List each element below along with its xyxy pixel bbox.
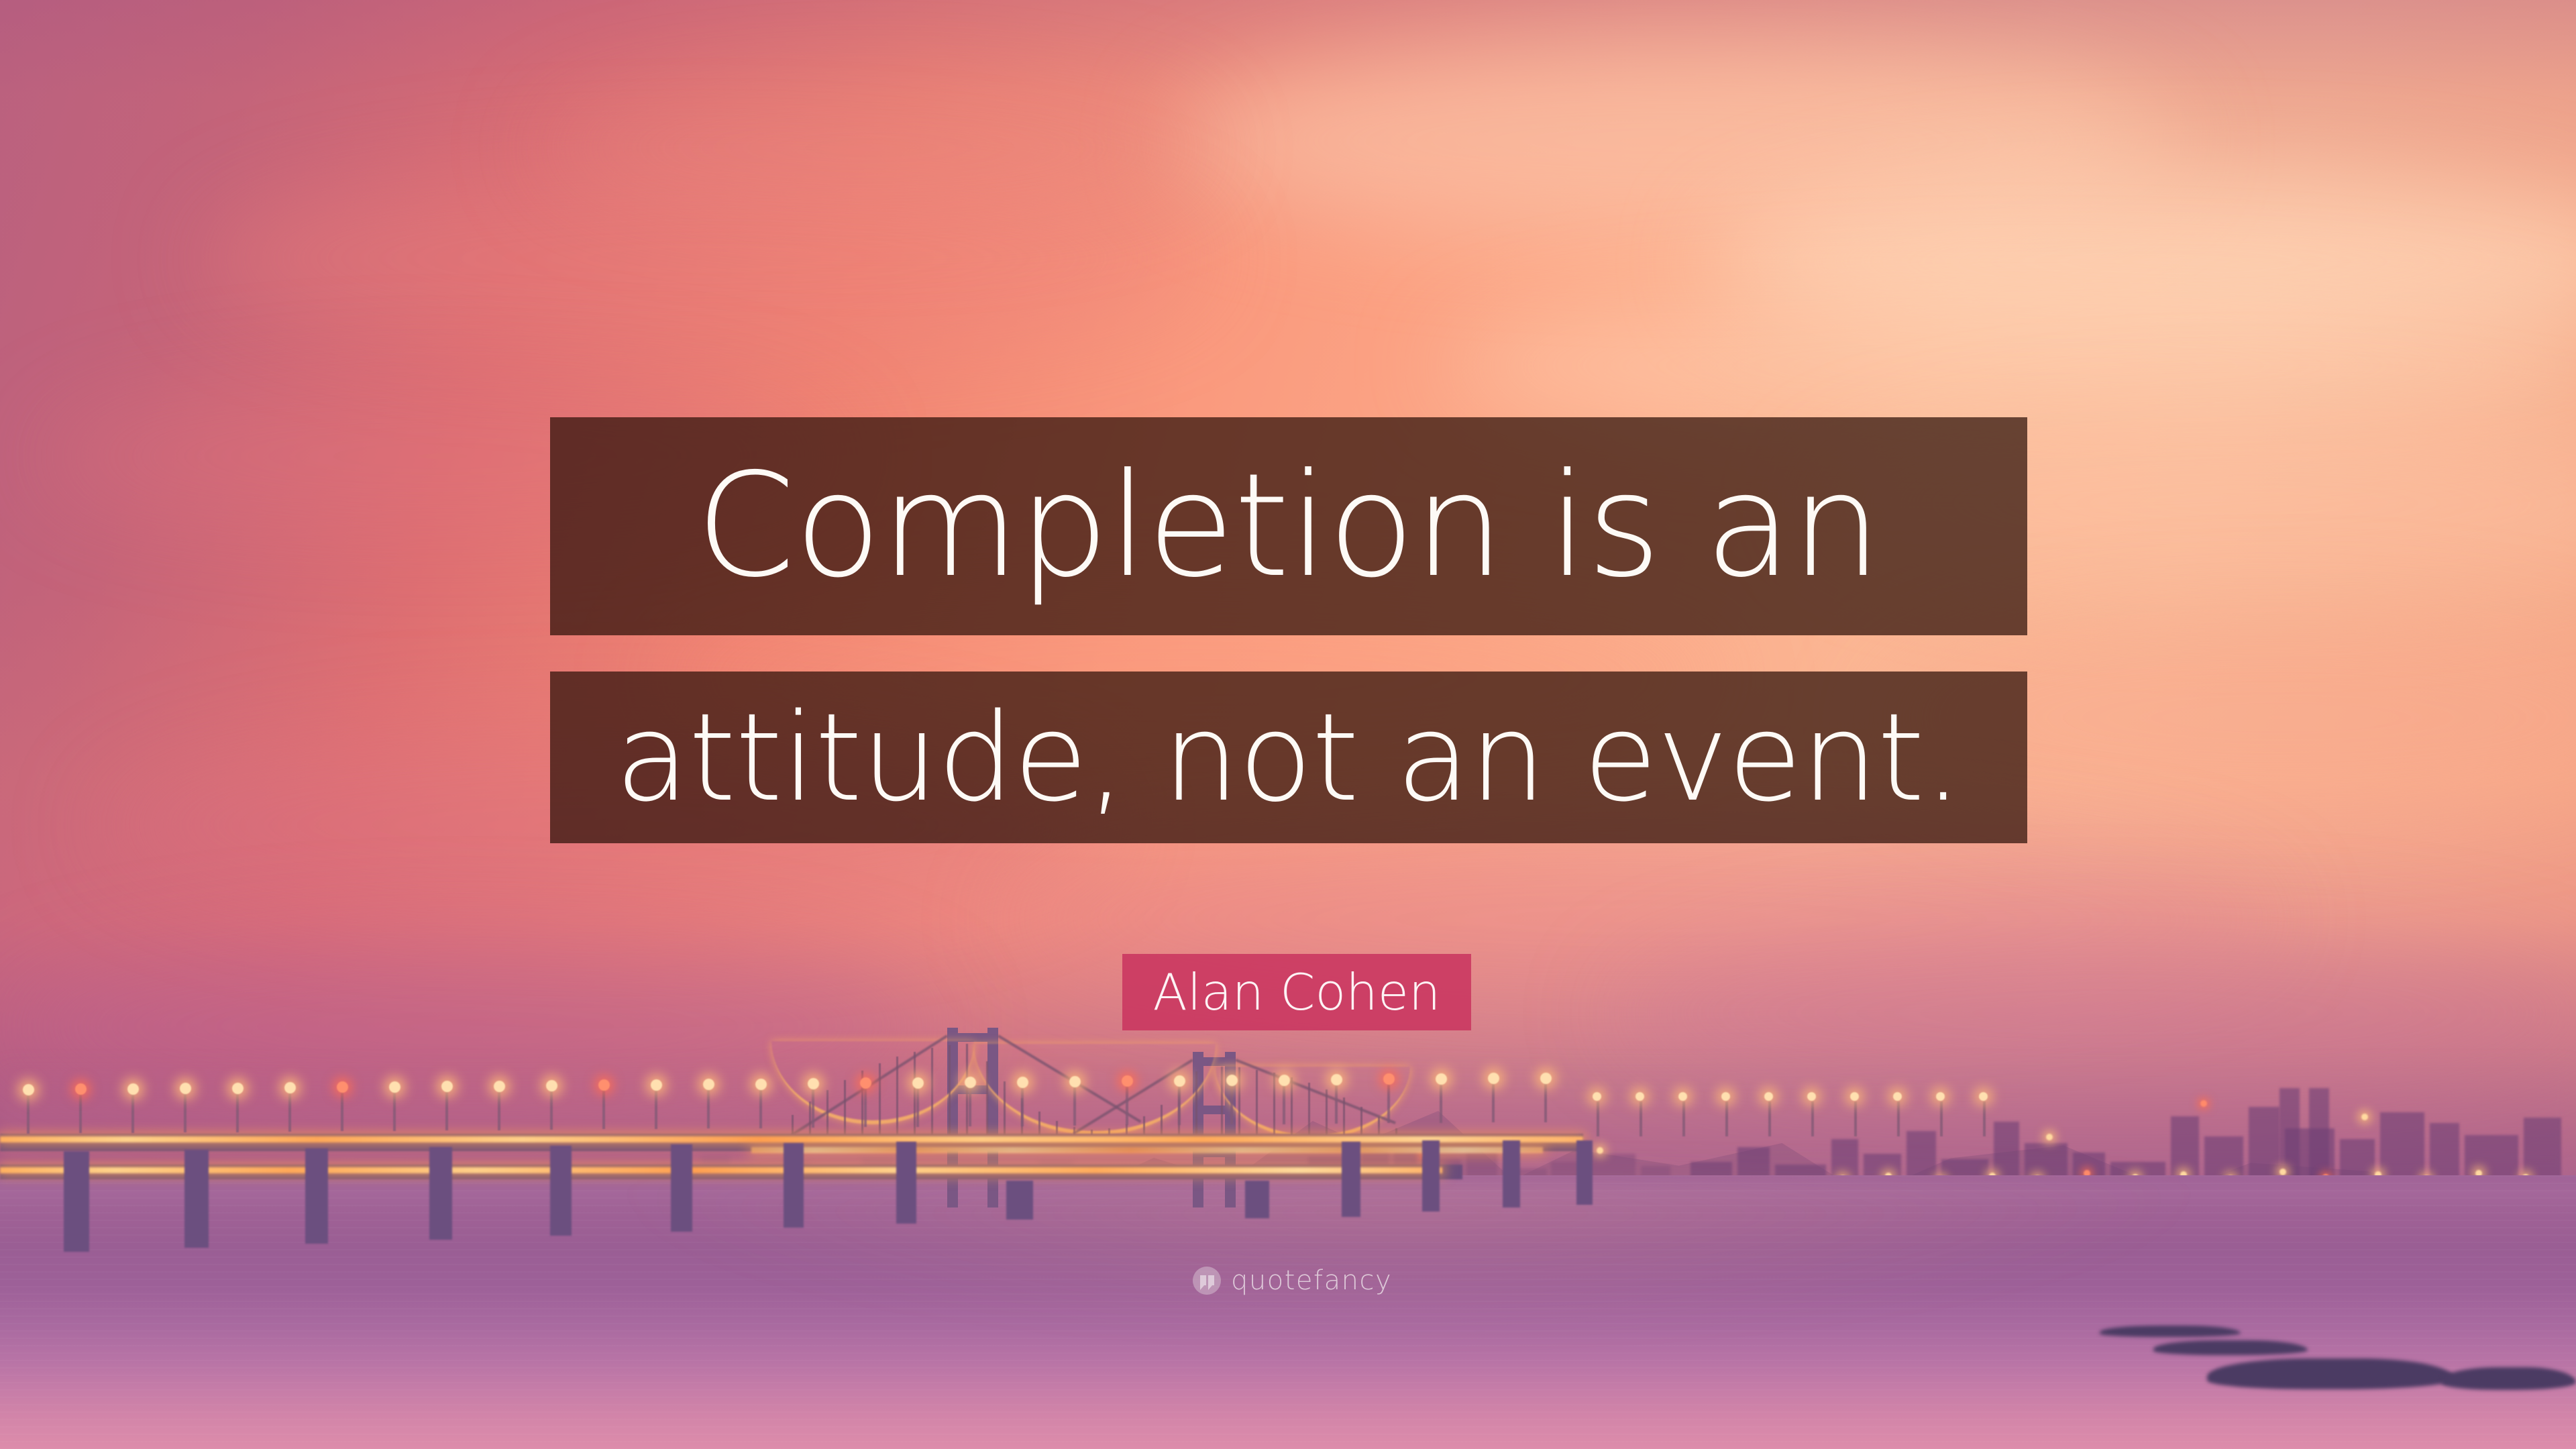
lamp-light xyxy=(808,1078,819,1089)
lamp-post xyxy=(1811,1102,1814,1136)
lamp-post xyxy=(341,1091,343,1131)
lamp-post xyxy=(1283,1084,1285,1124)
bridge-hanger xyxy=(914,1052,916,1140)
lamp-post xyxy=(236,1092,239,1132)
rock-outcrop xyxy=(2153,1340,2308,1355)
lamp-light xyxy=(1936,1092,1945,1101)
deck-light-strip xyxy=(0,1167,1442,1173)
lamp-light xyxy=(441,1081,453,1092)
rock-outcrop xyxy=(2442,1367,2576,1390)
quote-mark-icon xyxy=(1193,1267,1221,1295)
bridge-hanger xyxy=(826,1090,828,1140)
lamp-light xyxy=(284,1082,296,1093)
bridge-hanger xyxy=(931,1048,933,1140)
bridge-hanger xyxy=(1238,1067,1240,1142)
lamp-post xyxy=(288,1091,291,1132)
lamp-light xyxy=(546,1080,557,1091)
lamp-post xyxy=(79,1093,82,1133)
bridge-hanger xyxy=(1195,1071,1197,1140)
lamp-post xyxy=(602,1089,605,1129)
lamp-post xyxy=(969,1086,971,1126)
quote-line-1: Completion is an xyxy=(696,455,1881,598)
lamp-light xyxy=(1593,1092,1601,1101)
lamp-light xyxy=(1893,1092,1902,1101)
lamp-light xyxy=(1174,1075,1185,1087)
lamp-post xyxy=(445,1090,448,1130)
lamp-post xyxy=(1640,1102,1642,1136)
bridge-hanger xyxy=(896,1057,898,1140)
lamp-light xyxy=(1721,1092,1730,1101)
lamp-light xyxy=(1331,1074,1342,1085)
bridge-hanger xyxy=(986,1061,988,1140)
lamp-post xyxy=(393,1091,396,1131)
lamp-post xyxy=(1021,1086,1024,1126)
lamp-light xyxy=(1488,1073,1499,1084)
bridge-side-cable xyxy=(1216,1067,1410,1139)
bridge-pier xyxy=(1503,1140,1520,1207)
bridge-pier xyxy=(1576,1140,1593,1205)
lamp-post xyxy=(707,1088,710,1128)
lamp-light xyxy=(1764,1092,1773,1101)
lamp-post xyxy=(498,1090,500,1130)
bridge-hanger xyxy=(1256,1070,1258,1142)
lamp-post xyxy=(812,1087,814,1128)
rock-outcrop xyxy=(2100,1326,2241,1337)
lamp-post xyxy=(655,1089,657,1129)
lamp-post xyxy=(1768,1102,1771,1136)
lamp-light xyxy=(75,1083,87,1095)
lamp-post xyxy=(1387,1083,1390,1123)
bridge-hanger xyxy=(879,1063,881,1140)
bridge-hanger xyxy=(1291,1077,1293,1142)
lamp-post xyxy=(1597,1102,1599,1136)
quote-line-2: attitude, not an event. xyxy=(615,697,1962,818)
lamp-post xyxy=(864,1087,867,1127)
lamp-light xyxy=(127,1083,139,1095)
lamp-post xyxy=(1725,1102,1728,1136)
bridge-pier xyxy=(429,1147,452,1240)
suspension-bridge xyxy=(0,1006,2576,1275)
lamp-light xyxy=(232,1083,244,1094)
lamp-post xyxy=(1897,1102,1900,1136)
lamp-post xyxy=(1544,1082,1547,1122)
lamp-light xyxy=(389,1081,400,1093)
lamp-light xyxy=(598,1079,610,1091)
bridge-hanger xyxy=(966,1044,968,1140)
lamp-light xyxy=(703,1079,714,1090)
quotefancy-watermark[interactable]: quotefancy xyxy=(1193,1267,1392,1295)
bridge-hanger xyxy=(1308,1083,1310,1142)
lamp-post xyxy=(1440,1083,1442,1123)
bridge-pier xyxy=(784,1143,804,1228)
bridge-pier xyxy=(1342,1142,1360,1217)
bridge-pier xyxy=(305,1148,328,1244)
lamp-light xyxy=(755,1079,767,1090)
bridge-pier xyxy=(1422,1140,1440,1212)
lamp-light xyxy=(1069,1076,1081,1087)
lamp-light xyxy=(651,1079,662,1091)
lamp-post xyxy=(1178,1085,1181,1125)
bridge-hanger xyxy=(949,1045,951,1140)
lamp-post xyxy=(1854,1102,1857,1136)
lamp-post xyxy=(1335,1083,1338,1124)
lamp-light xyxy=(180,1083,191,1094)
author-band: Alan Cohen xyxy=(1122,954,1471,1030)
bridge-pier xyxy=(64,1151,89,1252)
quote-glyph-left xyxy=(1200,1275,1206,1285)
lamp-post xyxy=(1073,1085,1076,1126)
lamp-post xyxy=(1230,1084,1233,1124)
rock-outcrop xyxy=(2207,1358,2455,1389)
lamp-light xyxy=(1436,1073,1447,1085)
lamp-post xyxy=(1682,1102,1685,1136)
bridge-pier xyxy=(1245,1181,1269,1218)
bridge-hanger xyxy=(1221,1067,1223,1142)
author-name: Alan Cohen xyxy=(1153,967,1441,1018)
lamp-light xyxy=(912,1077,924,1089)
lamp-post xyxy=(27,1093,30,1134)
bridge-tower-right-crossbar xyxy=(1193,1106,1236,1114)
bridge-pier xyxy=(671,1144,692,1232)
bridge-pier xyxy=(896,1142,916,1224)
lamp-light xyxy=(1279,1075,1290,1086)
lamp-post xyxy=(550,1089,553,1130)
lamp-light xyxy=(1850,1092,1859,1101)
lamp-post xyxy=(1126,1085,1128,1125)
lamp-post xyxy=(131,1093,134,1133)
quote-image-canvas: Completion is an attitude, not an event.… xyxy=(0,0,2576,1449)
bridge-pier xyxy=(1006,1181,1033,1220)
watermark-brand-label: quotefancy xyxy=(1231,1267,1392,1294)
lamp-post xyxy=(916,1087,919,1127)
lamp-light xyxy=(1807,1092,1816,1101)
lamp-light xyxy=(494,1081,505,1092)
quote-glyph-right xyxy=(1208,1275,1214,1285)
lamp-post xyxy=(1492,1082,1495,1122)
bridge-hanger xyxy=(844,1080,846,1140)
lamp-post xyxy=(1940,1102,1943,1136)
lamp-light xyxy=(23,1084,34,1095)
bridge-pier xyxy=(184,1150,209,1248)
lamp-post xyxy=(1983,1102,1986,1136)
quote-line-2-band: attitude, not an event. xyxy=(550,672,2027,843)
lamp-light xyxy=(1979,1092,1988,1101)
bridge-hanger xyxy=(1004,1081,1006,1140)
lamp-light xyxy=(1678,1092,1687,1101)
bridge-hanger xyxy=(1273,1073,1275,1142)
lamp-post xyxy=(759,1088,762,1128)
quote-line-1-band: Completion is an xyxy=(550,417,2027,635)
lamp-light xyxy=(1540,1073,1552,1084)
lamp-light xyxy=(1017,1077,1028,1088)
bridge-pier xyxy=(550,1146,572,1236)
lamp-light xyxy=(1635,1092,1644,1101)
lamp-light xyxy=(337,1081,348,1093)
lamp-post xyxy=(184,1092,186,1132)
